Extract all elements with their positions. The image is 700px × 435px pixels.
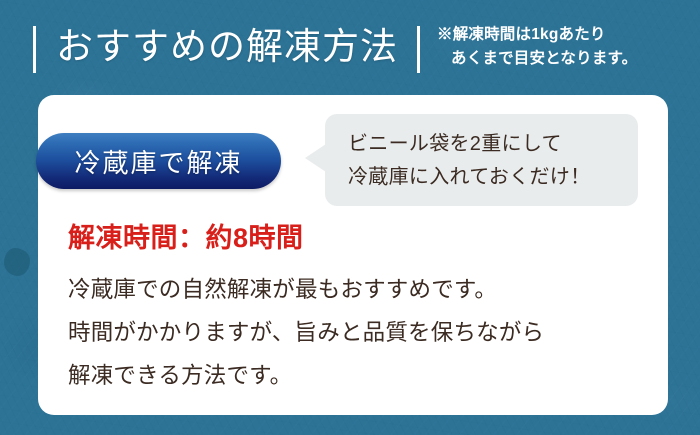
instruction-bubble-line-1: ビニール袋を2重にして xyxy=(348,128,628,161)
method-badge: 冷蔵庫で解凍 xyxy=(36,133,281,189)
title-rule-left xyxy=(33,26,36,73)
instruction-bubble-text: ビニール袋を2重にして 冷蔵庫に入れておくだけ！ xyxy=(348,128,628,194)
description-line-1: 冷蔵庫での自然解凍が最もおすすめです。 xyxy=(68,268,638,311)
instruction-bubble-tail xyxy=(305,144,326,172)
header-note-line-1: ※解凍時間は1kgあたり xyxy=(437,26,606,43)
title-rule-right xyxy=(417,26,420,73)
infographic-canvas: おすすめの解凍方法 ※解凍時間は1kgあたり あくまで目安となります。 冷蔵庫で… xyxy=(0,0,700,435)
description-text: 冷蔵庫での自然解凍が最もおすすめです。 時間がかかりますが、旨みと品質を保ちなが… xyxy=(68,268,638,397)
description-line-2: 時間がかかりますが、旨みと品質を保ちながら xyxy=(68,311,638,354)
method-badge-label: 冷蔵庫で解凍 xyxy=(36,133,281,189)
page-title: おすすめの解凍方法 xyxy=(56,18,398,78)
texture-blotch xyxy=(4,248,30,276)
header-note: ※解凍時間は1kgあたり あくまで目安となります。 xyxy=(437,23,687,71)
description-line-3: 解凍できる方法です。 xyxy=(68,354,638,397)
header-note-line-2: あくまで目安となります。 xyxy=(437,47,687,71)
thaw-time-heading: 解凍時間：約8時間 xyxy=(68,216,304,255)
header: おすすめの解凍方法 ※解凍時間は1kgあたり あくまで目安となります。 xyxy=(0,14,700,86)
instruction-bubble-line-2: 冷蔵庫に入れておくだけ！ xyxy=(348,161,628,194)
